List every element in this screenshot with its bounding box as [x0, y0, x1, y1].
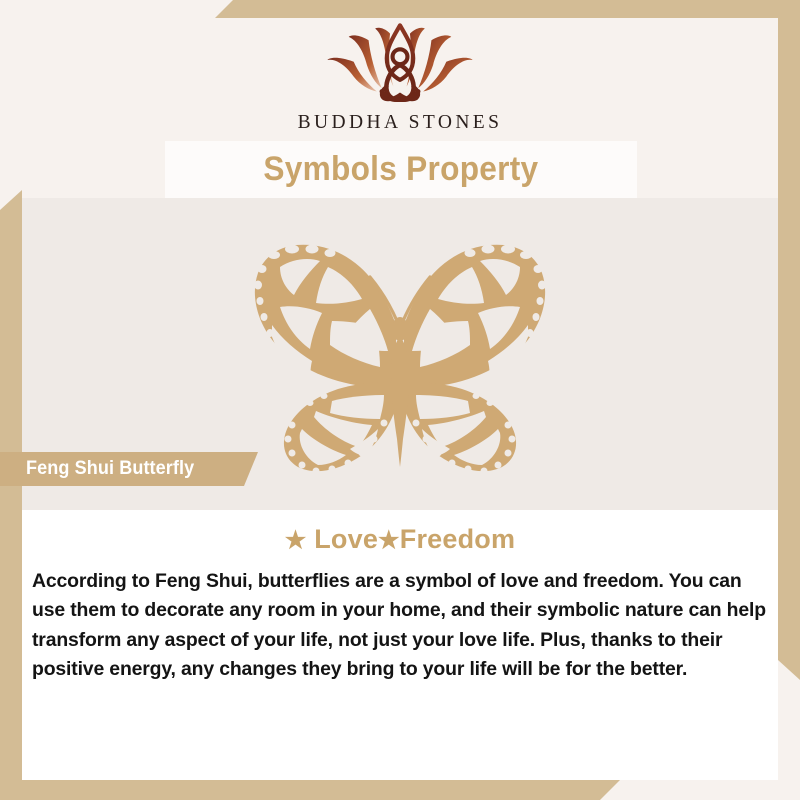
butterfly-icon: [220, 233, 580, 483]
title-banner: Symbols Property: [165, 141, 637, 198]
decor-band-left: [0, 190, 22, 800]
heading-word-freedom: Freedom: [400, 524, 515, 554]
decor-band-top: [215, 0, 800, 18]
page-title: Symbols Property: [263, 150, 538, 189]
lotus-meditation-icon: [316, 22, 484, 108]
description-heading: ★ Love★Freedom: [22, 524, 778, 555]
brand-header: BUDDHA STONES: [0, 22, 800, 142]
decor-band-bottom: [0, 780, 620, 800]
heading-word-love: Love: [314, 524, 378, 554]
poster-root: BUDDHA STONES Symbols Property: [0, 0, 800, 800]
description-panel: ★ Love★Freedom According to Feng Shui, b…: [22, 510, 778, 780]
name-tag-label: Feng Shui Butterfly: [26, 458, 194, 480]
brand-name: BUDDHA STONES: [298, 112, 503, 134]
description-body: According to Feng Shui, butterflies are …: [28, 567, 772, 685]
star-icon-middle: ★: [378, 527, 400, 554]
star-icon-left: ★: [285, 527, 307, 554]
feng-shui-butterfly-tag: Feng Shui Butterfly: [0, 452, 258, 486]
